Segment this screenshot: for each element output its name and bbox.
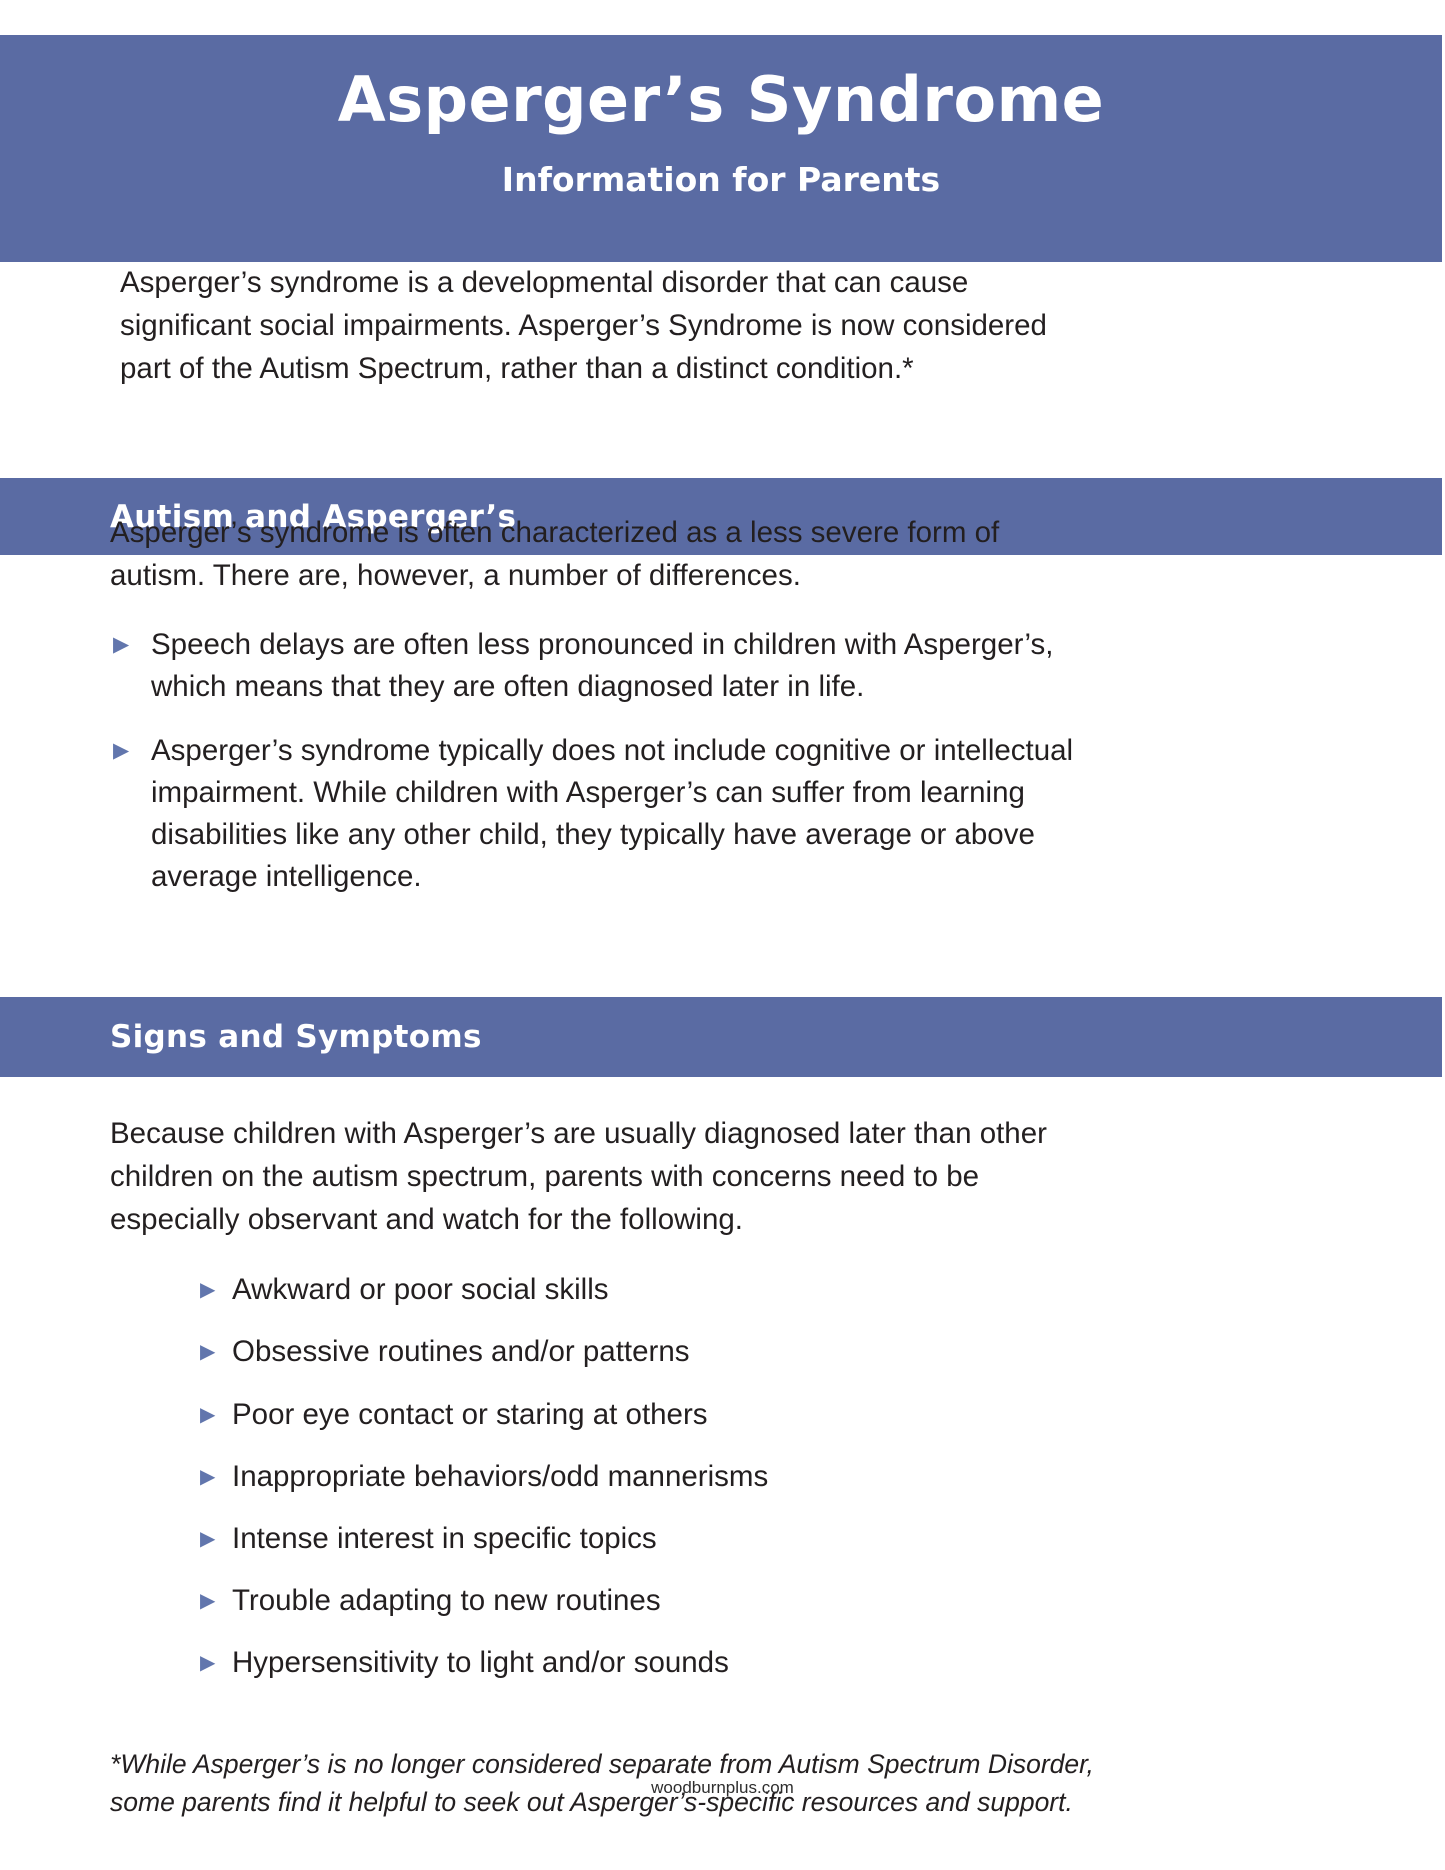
triangle-bullet-icon: ▶ [200,1581,215,1622]
triangle-bullet-icon: ▶ [113,731,129,772]
section-paragraph-signs-and-symptoms: Because children with Asperger’s are usu… [110,1113,1080,1241]
triangle-bullet-icon: ▶ [200,1395,215,1436]
triangle-bullet-icon: ▶ [113,625,129,666]
list-item-text: Trouble adapting to new routines [232,1584,661,1617]
list-item-text: Awkward or poor social skills [232,1273,609,1306]
list-item-text: Poor eye contact or staring at others [232,1398,708,1431]
triangle-bullet-icon: ▶ [200,1519,215,1560]
title-banner: Asperger’s Syndrome Information for Pare… [0,35,1442,262]
list-item-text: Hypersensitivity to light and/or sounds [232,1646,729,1679]
list-item: ▶ Intense interest in specific topics [200,1518,900,1560]
intro-paragraph: Asperger’s syndrome is a developmental d… [120,262,1085,390]
list-item: ▶ Asperger’s syndrome typically does not… [113,730,1113,899]
section-paragraph-autism-and-aspergers: Asperger’s syndrome is often characteriz… [110,512,1100,598]
differences-bullet-list: ▶ Speech delays are often less pronounce… [113,624,1113,899]
list-item: ▶ Awkward or poor social skills [200,1269,900,1311]
list-item: ▶ Speech delays are often less pronounce… [113,624,1113,708]
list-item-text: Speech delays are often less pronounced … [151,628,1054,703]
list-item: ▶ Poor eye contact or staring at others [200,1394,900,1436]
document-page: Asperger’s Syndrome Information for Pare… [0,0,1445,1870]
page-title: Asperger’s Syndrome [338,67,1104,134]
symptoms-bullet-list: ▶ Awkward or poor social skills ▶ Obsess… [200,1269,900,1704]
list-item: ▶ Trouble adapting to new routines [200,1580,900,1622]
triangle-bullet-icon: ▶ [200,1643,215,1684]
list-item: ▶ Hypersensitivity to light and/or sound… [200,1642,900,1684]
site-footer: woodburnplus.com [0,1778,1445,1798]
list-item: ▶ Inappropriate behaviors/odd mannerisms [200,1456,900,1498]
list-item-text: Obsessive routines and/or patterns [232,1335,690,1368]
triangle-bullet-icon: ▶ [200,1270,215,1311]
list-item-text: Inappropriate behaviors/odd mannerisms [232,1460,768,1493]
section-heading-signs-and-symptoms: Signs and Symptoms [0,997,1442,1077]
triangle-bullet-icon: ▶ [200,1457,215,1498]
list-item-text: Intense interest in specific topics [232,1522,657,1555]
list-item: ▶ Obsessive routines and/or patterns [200,1331,900,1373]
section-heading-label: Signs and Symptoms [0,1019,482,1055]
triangle-bullet-icon: ▶ [200,1332,215,1373]
list-item-text: Asperger’s syndrome typically does not i… [151,734,1073,894]
page-subtitle: Information for Parents [502,162,940,198]
